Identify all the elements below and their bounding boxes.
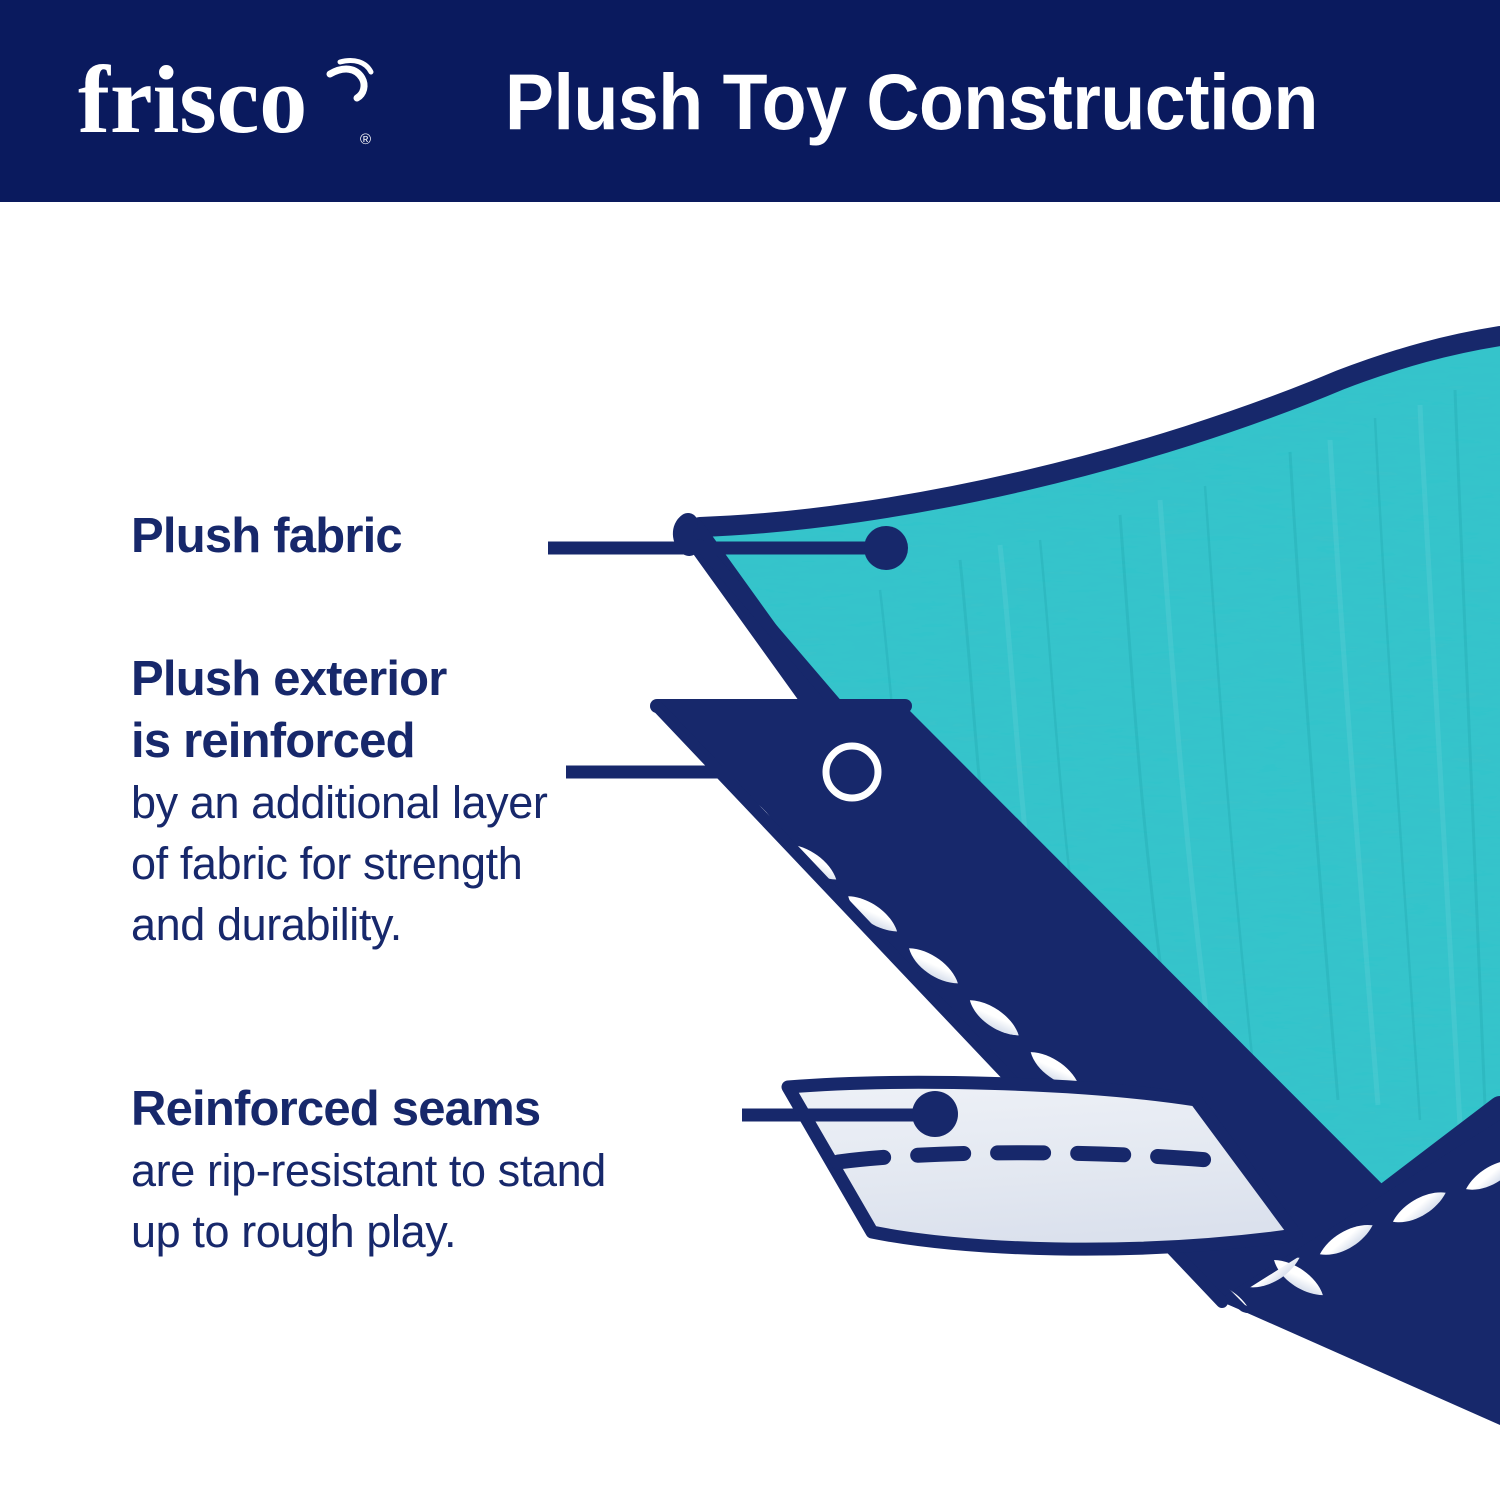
callout-reinforced-seams: Reinforced seams are rip-resistant to st… (131, 1078, 606, 1262)
pointer-dot-plush-exterior (831, 751, 873, 793)
frisco-logo-text: frisco (78, 48, 307, 153)
mesh-reinforcement-layer (500, 706, 1500, 1500)
callout-reinforced-seams-body: are rip-resistant to stand up to rough p… (131, 1140, 606, 1262)
mesh-holes-lower (1192, 992, 1500, 1293)
page-title: Plush Toy Construction (505, 52, 1333, 152)
frisco-trademark: ® (360, 131, 371, 148)
plush-fabric-inner-fold (700, 545, 884, 760)
plush-fabric-fold-edge (692, 530, 1248, 1300)
callout-plush-exterior-body: by an additional layer of fabric for str… (131, 772, 547, 955)
frisco-logo: frisco ® (78, 48, 388, 158)
seam-stitch-dashes (838, 1153, 1208, 1162)
callout-plush-exterior-heading: Plush exterior is reinforced (131, 648, 547, 772)
frisco-logo-mark: frisco ® (78, 48, 388, 158)
mesh-band-upper (657, 706, 1500, 1420)
pointer-dot-ring-plush-exterior (826, 746, 878, 798)
callout-plush-fabric: Plush fabric (131, 505, 402, 567)
infographic-page: frisco ® Plush Toy Construction (0, 0, 1500, 1500)
mesh-band-left-edge (657, 706, 1222, 1302)
seam-flap-shape (788, 1082, 1296, 1249)
seam-flap-body (788, 1082, 1296, 1249)
mesh-band-lower (1218, 1120, 1500, 1425)
fur-striations (880, 390, 1486, 1130)
pointer-dot-reinforced-seams (912, 1091, 958, 1137)
fur-striations-light (1000, 405, 1460, 1125)
plush-fabric-tip-cap (683, 523, 689, 546)
callout-plush-fabric-heading: Plush fabric (131, 505, 402, 567)
plush-fabric-top-edge (700, 336, 1500, 527)
callout-reinforced-seams-heading: Reinforced seams (131, 1078, 606, 1140)
plush-fabric-bottom-edge (1248, 1108, 1500, 1300)
leader-lines-group (548, 526, 958, 1137)
callout-plush-exterior: Plush exterior is reinforced by an addit… (131, 648, 547, 955)
mesh-holes-upper (500, 732, 1357, 1500)
frisco-swoosh-icon (330, 69, 364, 98)
pointer-dot-plush-fabric (864, 526, 908, 570)
plush-fabric-shape (683, 336, 1500, 1300)
